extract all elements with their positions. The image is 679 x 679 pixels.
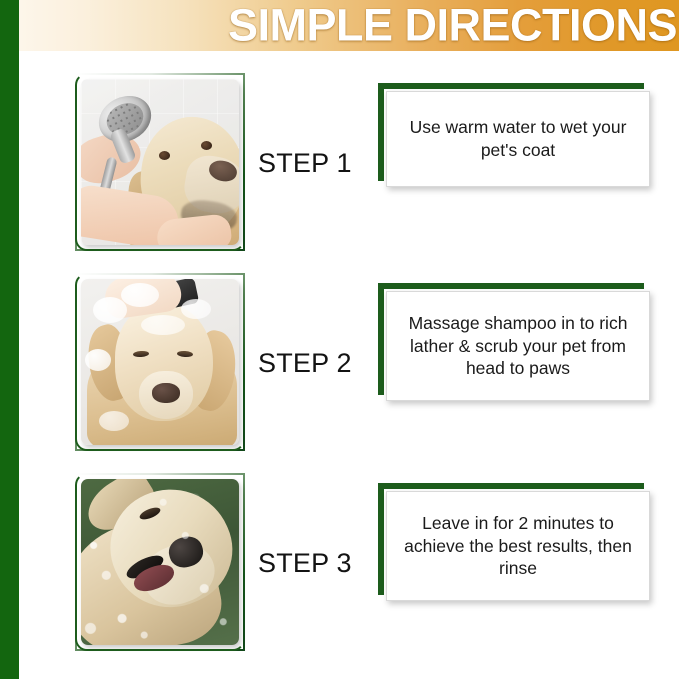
card-body: Use warm water to wet your pet's coat	[386, 91, 650, 187]
step-instruction-text: Use warm water to wet your pet's coat	[397, 116, 639, 162]
shampoo-suds	[85, 349, 111, 371]
card-body: Leave in for 2 minutes to achieve the be…	[386, 491, 650, 601]
step-instruction-text: Leave in for 2 minutes to achieve the be…	[397, 512, 639, 580]
header-banner: SIMPLE DIRECTIONS	[19, 0, 679, 51]
step-photo-frame	[75, 73, 245, 251]
step-photo-frame	[75, 473, 245, 651]
step-instruction-card: Use warm water to wet your pet's coat	[378, 83, 650, 187]
shampoo-suds	[99, 411, 129, 431]
step-photo-1	[81, 79, 239, 245]
dog-eye-left	[159, 151, 170, 160]
step-row: STEP 3 Leave in for 2 minutes to achieve…	[0, 465, 679, 665]
dog-nose-shape	[152, 383, 180, 403]
step-instruction-text: Massage shampoo in to rich lather & scru…	[397, 312, 639, 380]
card-body: Massage shampoo in to rich lather & scru…	[386, 291, 650, 401]
step-label: STEP 3	[258, 465, 368, 661]
step-photo-2	[81, 279, 239, 445]
step-instruction-card: Leave in for 2 minutes to achieve the be…	[378, 483, 650, 601]
step-label: STEP 2	[258, 265, 368, 461]
shampoo-suds	[141, 315, 185, 335]
directions-infographic: SIMPLE DIRECTIONS	[0, 0, 679, 679]
dog-eye-right	[201, 141, 212, 150]
shampoo-suds	[93, 297, 127, 323]
step-row: STEP 2 Massage shampoo in to rich lather…	[0, 265, 679, 465]
shampoo-suds	[121, 283, 159, 307]
shampoo-suds	[181, 299, 211, 319]
step-instruction-card: Massage shampoo in to rich lather & scru…	[378, 283, 650, 401]
steps-list: STEP 1 Use warm water to wet your pet's …	[0, 51, 679, 679]
step-row: STEP 1 Use warm water to wet your pet's …	[0, 65, 679, 265]
step-label: STEP 1	[258, 65, 368, 261]
step-photo-frame	[75, 273, 245, 451]
step-photo-3	[81, 479, 239, 645]
page-title: SIMPLE DIRECTIONS	[228, 2, 677, 47]
